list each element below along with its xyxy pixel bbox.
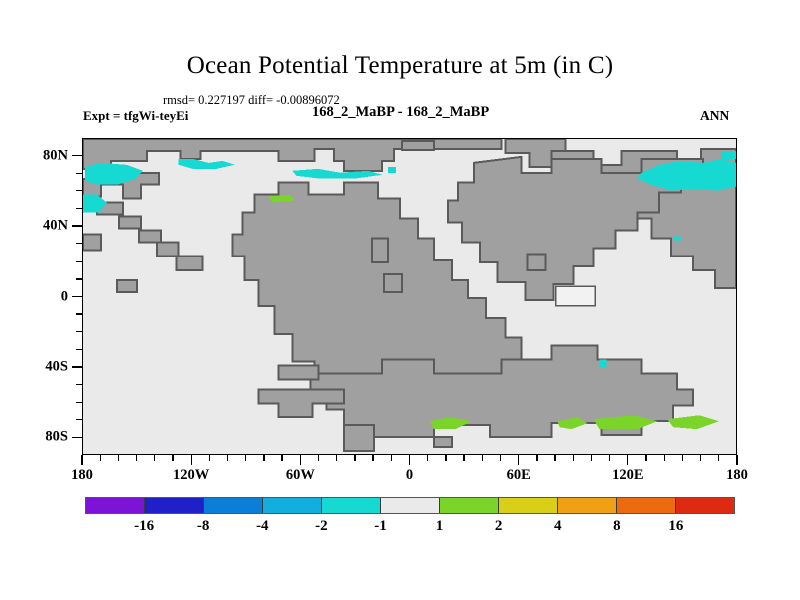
x-axis-major-tick xyxy=(300,455,301,465)
x-axis-major-tick xyxy=(409,455,410,465)
y-axis-major-tick xyxy=(72,366,82,367)
x-axis-minor-tick xyxy=(463,455,464,461)
x-axis-label: 120E xyxy=(612,467,643,484)
colorbar-tick-label: 8 xyxy=(613,518,621,535)
x-axis-minor-tick xyxy=(427,455,428,461)
x-axis-minor-tick xyxy=(263,455,264,461)
colorbar-tick-label: 1 xyxy=(436,518,444,535)
colorbar-segment[interactable] xyxy=(499,498,558,513)
x-axis-minor-tick xyxy=(245,455,246,461)
x-axis-minor-tick xyxy=(445,455,446,461)
colorbar-tick-label: -4 xyxy=(256,518,269,535)
x-axis-minor-tick xyxy=(700,455,701,461)
colorbar-tick-label: -1 xyxy=(374,518,387,535)
y-axis-major-tick xyxy=(72,225,82,226)
x-axis-minor-tick xyxy=(154,455,155,461)
x-axis-label: 180 xyxy=(726,467,748,484)
colorbar-segment[interactable] xyxy=(86,498,145,513)
x-axis-label: 60E xyxy=(507,467,531,484)
x-axis-major-tick xyxy=(81,455,82,465)
colorbar-tick-label: 16 xyxy=(668,518,683,535)
page-title: Ocean Potential Temperature at 5m (in C) xyxy=(0,52,800,80)
x-axis-minor-tick xyxy=(482,455,483,461)
colorbar-segment[interactable] xyxy=(617,498,676,513)
colorbar-tick-label: -16 xyxy=(134,518,154,535)
x-axis-minor-tick xyxy=(609,455,610,461)
y-axis-major-tick xyxy=(72,296,82,297)
x-axis-minor-tick xyxy=(136,455,137,461)
y-axis-minor-tick xyxy=(76,243,82,244)
y-axis-label: 40S xyxy=(45,358,68,375)
x-axis-minor-tick xyxy=(536,455,537,461)
y-axis-minor-tick xyxy=(76,313,82,314)
colorbar-segment[interactable] xyxy=(440,498,499,513)
x-axis-minor-tick xyxy=(209,455,210,461)
colorbar-segment[interactable] xyxy=(263,498,322,513)
x-axis-minor-tick xyxy=(372,455,373,461)
world-map-graphic xyxy=(83,139,736,454)
y-axis-label: 80S xyxy=(45,429,68,446)
land-masses xyxy=(83,139,736,451)
case-comparison-label: 168_2_MaBP - 168_2_MaBP xyxy=(312,104,489,121)
experiment-label: Expt = tfgWi-teyEi xyxy=(83,108,188,124)
y-axis-minor-tick xyxy=(76,278,82,279)
colorbar-segment[interactable] xyxy=(204,498,263,513)
colorbar-tick-label: 2 xyxy=(495,518,503,535)
y-axis-minor-tick xyxy=(76,190,82,191)
x-axis-minor-tick xyxy=(718,455,719,461)
x-axis-minor-tick xyxy=(664,455,665,461)
x-axis-minor-tick xyxy=(172,455,173,461)
y-axis-label: 80N xyxy=(43,147,68,164)
x-axis-minor-tick xyxy=(336,455,337,461)
x-axis-minor-tick xyxy=(645,455,646,461)
y-axis-minor-tick xyxy=(76,349,82,350)
x-axis-label: 60W xyxy=(286,467,315,484)
x-axis-major-tick xyxy=(518,455,519,465)
y-axis-minor-tick xyxy=(76,208,82,209)
x-axis-label: 180 xyxy=(71,467,93,484)
x-axis-minor-tick xyxy=(591,455,592,461)
x-axis-minor-tick xyxy=(682,455,683,461)
x-axis-minor-tick xyxy=(118,455,119,461)
x-axis-label: 120W xyxy=(173,467,209,484)
x-axis-minor-tick xyxy=(227,455,228,461)
y-axis-label: 40N xyxy=(43,218,68,235)
season-label: ANN xyxy=(700,108,729,124)
map-plot-area xyxy=(82,138,737,455)
colorbar-segment[interactable] xyxy=(322,498,381,513)
y-axis-major-tick xyxy=(72,155,82,156)
x-axis-minor-tick xyxy=(391,455,392,461)
colorbar-tick-label: 4 xyxy=(554,518,562,535)
x-axis-minor-tick xyxy=(573,455,574,461)
x-axis-minor-tick xyxy=(500,455,501,461)
x-axis-major-tick xyxy=(736,455,737,465)
colorbar[interactable] xyxy=(85,497,735,514)
x-axis-major-tick xyxy=(191,455,192,465)
y-axis-minor-tick xyxy=(76,173,82,174)
colorbar-tick-label: -2 xyxy=(315,518,328,535)
y-axis-minor-tick xyxy=(76,419,82,420)
x-axis-label: 0 xyxy=(406,467,413,484)
plot-canvas: Ocean Potential Temperature at 5m (in C)… xyxy=(0,0,800,600)
x-axis-minor-tick xyxy=(354,455,355,461)
y-axis-minor-tick xyxy=(76,331,82,332)
colorbar-segment[interactable] xyxy=(381,498,440,513)
colorbar-tick-label: -8 xyxy=(197,518,210,535)
x-axis-minor-tick xyxy=(318,455,319,461)
colorbar-segment[interactable] xyxy=(676,498,734,513)
y-axis-minor-tick xyxy=(76,402,82,403)
x-axis-major-tick xyxy=(627,455,628,465)
x-axis-minor-tick xyxy=(100,455,101,461)
x-axis-minor-tick xyxy=(554,455,555,461)
y-axis-minor-tick xyxy=(76,384,82,385)
x-axis-minor-tick xyxy=(281,455,282,461)
y-axis-label: 0 xyxy=(61,288,68,305)
y-axis-minor-tick xyxy=(76,261,82,262)
colorbar-segment[interactable] xyxy=(558,498,617,513)
y-axis-major-tick xyxy=(72,437,82,438)
colorbar-segment[interactable] xyxy=(145,498,204,513)
